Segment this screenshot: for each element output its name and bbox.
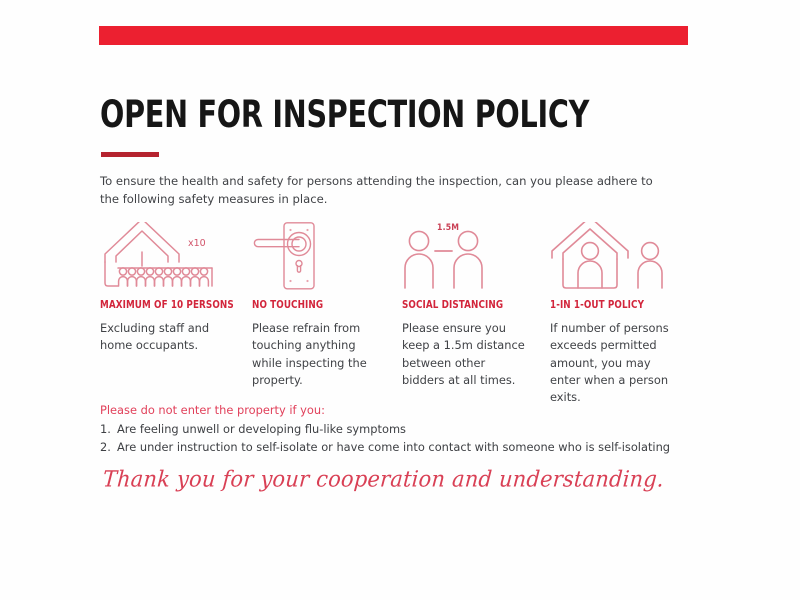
measure-heading: 1-IN 1-OUT POLICY	[550, 299, 682, 311]
measure-body: Please refrain from touching anything wh…	[252, 320, 376, 389]
thank-you-message: Thank you for your cooperation and under…	[102, 467, 665, 492]
measure-heading: NO TOUCHING	[252, 299, 393, 311]
house-with-ten-people-icon: x10	[100, 222, 252, 290]
two-people-distance-icon: 1.5M	[402, 222, 550, 290]
list-item-text: Are under instruction to self-isolate or…	[117, 439, 670, 457]
distance-label: 1.5M	[437, 223, 459, 233]
intro-paragraph: To ensure the health and safety for pers…	[100, 172, 670, 209]
measure-heading: SOCIAL DISTANCING	[402, 299, 541, 311]
list-item-text: Are feeling unwell or developing flu-lik…	[117, 421, 406, 439]
list-item-number: 1.	[100, 421, 117, 439]
warning-title: Please do not enter the property if you:	[100, 402, 680, 419]
warning-list: 1. Are feeling unwell or developing flu-…	[100, 421, 680, 457]
top-accent-bar	[99, 26, 688, 45]
page-title: OPEN FOR INSPECTION POLICY	[100, 96, 589, 133]
safety-measure-columns: x10 MAXIMUM OF 10 PERSONS Excluding staf…	[100, 222, 690, 407]
house-one-in-one-out-icon	[550, 222, 690, 290]
measure-body: Please ensure you keep a 1.5m distance b…	[402, 320, 526, 389]
measure-heading: MAXIMUM OF 10 PERSONS	[100, 299, 243, 311]
measure-column-social-distancing: 1.5M SOCIAL DISTANCING Please ensure you…	[402, 222, 550, 407]
measure-body: If number of persons exceeds permitted a…	[550, 320, 674, 407]
times-ten-badge: x10	[188, 238, 206, 249]
measure-column-one-in-one-out: 1-IN 1-OUT POLICY If number of persons e…	[550, 222, 690, 407]
title-underline-rule	[101, 152, 159, 157]
list-item: 1. Are feeling unwell or developing flu-…	[100, 421, 680, 439]
door-handle-icon	[252, 222, 402, 290]
list-item: 2. Are under instruction to self-isolate…	[100, 439, 680, 457]
list-item-number: 2.	[100, 439, 117, 457]
measure-column-maximum-persons: x10 MAXIMUM OF 10 PERSONS Excluding staf…	[100, 222, 252, 407]
policy-poster: OPEN FOR INSPECTION POLICY To ensure the…	[0, 0, 800, 600]
do-not-enter-warning: Please do not enter the property if you:…	[100, 402, 680, 457]
measure-column-no-touching: NO TOUCHING Please refrain from touching…	[252, 222, 402, 407]
measure-body: Excluding staff and home occupants.	[100, 320, 224, 355]
